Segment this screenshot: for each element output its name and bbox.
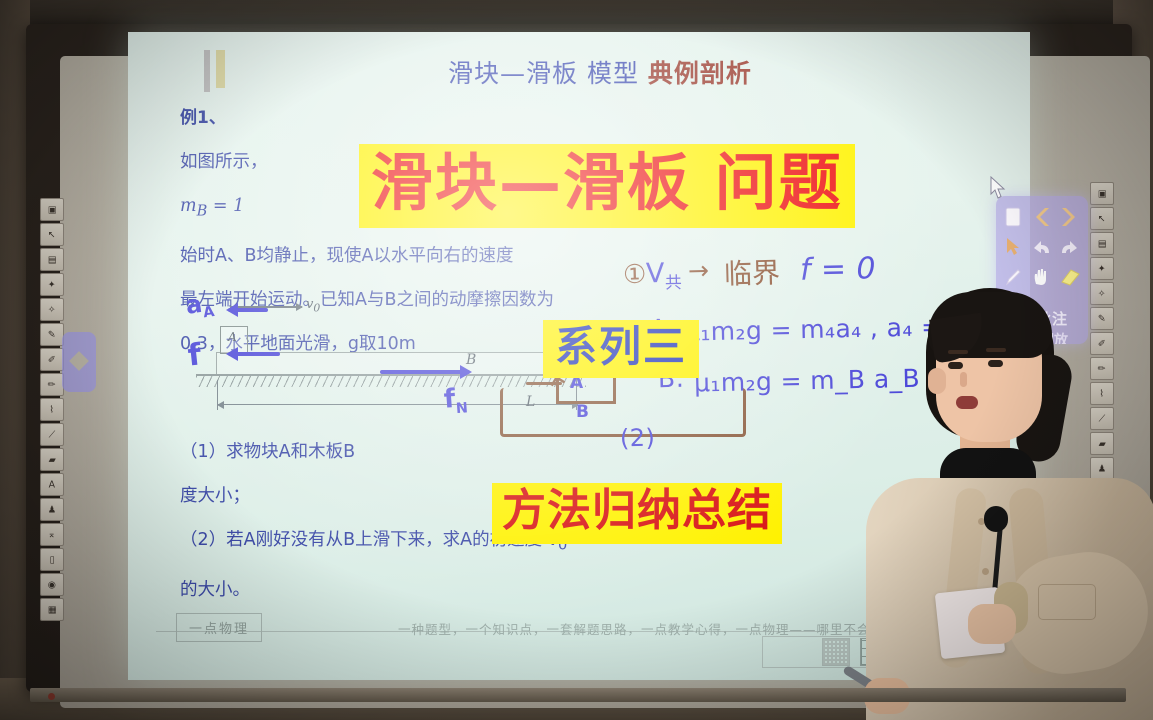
- compass-icon[interactable]: ⌅: [40, 523, 64, 546]
- select-arrow-glyph-r: ↖: [1098, 214, 1106, 223]
- marker-glyph: ✏: [48, 380, 56, 389]
- body-line-2-rest: = 1: [207, 196, 244, 216]
- qr-code-icon: [822, 638, 850, 666]
- teacher-hand-right: [968, 604, 1016, 644]
- color-glyph: ◉: [48, 580, 56, 589]
- eraser-icon[interactable]: ▰: [40, 448, 64, 471]
- fine-pen-icon[interactable]: ⟋: [40, 423, 64, 446]
- marker-icon[interactable]: ✏: [40, 373, 64, 396]
- tray-indicator-light: [48, 693, 55, 700]
- symbol-m: m: [180, 196, 197, 216]
- shape-fill-glyph: ✧: [48, 305, 56, 314]
- page-glyph: ▤: [48, 255, 57, 264]
- page-icon[interactable]: ▤: [1090, 232, 1114, 255]
- teacher-coat-pocket: [1038, 584, 1096, 620]
- ink-note-v-common: V共: [646, 258, 683, 294]
- diagram-v0-subscript: 0: [313, 302, 320, 315]
- select-arrow-icon[interactable]: ↖: [1090, 207, 1114, 230]
- shape-fill-icon[interactable]: ✧: [40, 298, 64, 321]
- prev-page-icon[interactable]: [1029, 204, 1053, 229]
- shape-icon[interactable]: ✦: [1090, 257, 1114, 280]
- color-icon[interactable]: ◉: [40, 573, 64, 596]
- overlay-banner-method: 方法归纳总结: [492, 483, 782, 544]
- red-pen-icon[interactable]: ✐: [40, 348, 64, 371]
- stamp-icon[interactable]: ♟: [40, 498, 64, 521]
- slide-title-main: 滑块—滑板 模型: [448, 59, 639, 88]
- stamp-glyph: ♟: [48, 505, 56, 514]
- diagram-length-arrow: [218, 404, 578, 405]
- screen-capture-icon[interactable]: ▣: [1090, 182, 1114, 205]
- more-icon[interactable]: ▦: [40, 598, 64, 621]
- overlay-banner-series: 系列三: [543, 320, 699, 378]
- text-glyph: A: [49, 480, 55, 489]
- teacher-coat-button-2: [982, 568, 989, 575]
- brush-icon[interactable]: ⌇: [40, 398, 64, 421]
- shape-glyph: ✦: [48, 280, 56, 289]
- diagram-length-label: L: [526, 394, 535, 410]
- screen-capture-glyph-r: ▣: [1098, 189, 1107, 198]
- teacher-brow-right: [986, 348, 1006, 352]
- screen-capture-glyph: ▣: [48, 205, 57, 214]
- diagram-label-A: A: [228, 330, 237, 344]
- select-arrow-glyph: ↖: [48, 230, 56, 239]
- eraser-glyph: ▰: [48, 455, 55, 464]
- ink-note-number: ①: [623, 260, 647, 291]
- ink-v-subscript: 共: [665, 272, 683, 292]
- shape-glyph-r: ✦: [1098, 264, 1106, 273]
- red-pen-glyph: ✐: [48, 355, 56, 364]
- question-2-cont: 的大小。: [180, 568, 780, 612]
- compass-glyph: ⌅: [48, 530, 56, 539]
- page-glyph-r: ▤: [1098, 239, 1107, 248]
- fine-pen-glyph: ⟋: [49, 430, 56, 439]
- redo-icon[interactable]: [1058, 234, 1082, 259]
- next-page-icon[interactable]: [1058, 204, 1082, 229]
- floating-toolbar-grid: [1002, 204, 1082, 289]
- overlay-banner-title: 滑块—滑板 问题: [359, 144, 855, 228]
- ink-note-arrow: →: [688, 256, 710, 286]
- question-1: （1）求物块A和木板B: [180, 430, 780, 474]
- teacher-nose: [960, 372, 967, 387]
- mouse-cursor-icon: [990, 176, 1006, 200]
- slide-decor-tick: [204, 50, 210, 92]
- diagram-v0-label: v0: [306, 297, 320, 315]
- slide-title-emphasis: 典例剖析: [648, 59, 752, 88]
- slide-decor-tick-2: [216, 50, 225, 88]
- select-cursor-icon[interactable]: [1002, 234, 1024, 259]
- tool-rail-highlight[interactable]: [62, 332, 96, 392]
- text-icon[interactable]: A: [40, 473, 64, 496]
- select-arrow-icon[interactable]: ↖: [40, 223, 64, 246]
- new-page-icon[interactable]: [1002, 204, 1024, 229]
- pen-glyph: ✎: [48, 330, 56, 339]
- teacher-presenter: [856, 282, 1153, 720]
- whiteboard-pen-tray: [30, 688, 1126, 702]
- microphone-icon: [984, 506, 1008, 532]
- example-label: 例1、: [180, 96, 740, 140]
- slide-title: 滑块—滑板 模型 典例剖析: [448, 54, 752, 90]
- symbol-m-sub: B: [197, 203, 208, 220]
- ruler-icon[interactable]: ▯: [40, 548, 64, 571]
- pen-icon[interactable]: ✎: [40, 323, 64, 346]
- teacher-eye-right: [988, 360, 1003, 367]
- ink-note-critical: 临界: [723, 251, 780, 292]
- teacher-eye-left: [948, 362, 963, 369]
- undo-icon[interactable]: [1029, 234, 1053, 259]
- ink-mark-2: (2): [620, 424, 656, 453]
- left-tool-rail[interactable]: ▣ ↖ ▤ ✦ ✧ ✎ ✐ ✏ ⌇ ⟋ ▰ A ♟ ⌅ ▯ ◉ ▦: [40, 198, 64, 621]
- ink-arrow-friction: [228, 352, 280, 356]
- screen-capture-icon[interactable]: ▣: [40, 198, 64, 221]
- teacher-ear: [928, 368, 946, 394]
- screenshot-stage: 滑块—滑板 模型 典例剖析 例1、 如图所示， mB = 1 始时A、B均静止，…: [0, 0, 1153, 720]
- diagram-ground-hatching: [196, 376, 586, 387]
- shape-icon[interactable]: ✦: [40, 273, 64, 296]
- ink-arrow-board-motion: [380, 370, 470, 374]
- ruler-glyph: ▯: [49, 555, 54, 564]
- brush-glyph: ⌇: [50, 405, 55, 414]
- page-icon[interactable]: ▤: [40, 248, 64, 271]
- more-glyph: ▦: [48, 605, 57, 614]
- ink-arrow-acceleration: [228, 308, 268, 312]
- footer-brand-badge: 一点物理: [176, 613, 262, 642]
- teacher-brow-left: [948, 350, 968, 354]
- ink-v-symbol: V: [646, 258, 666, 289]
- teacher-mouth: [956, 396, 978, 409]
